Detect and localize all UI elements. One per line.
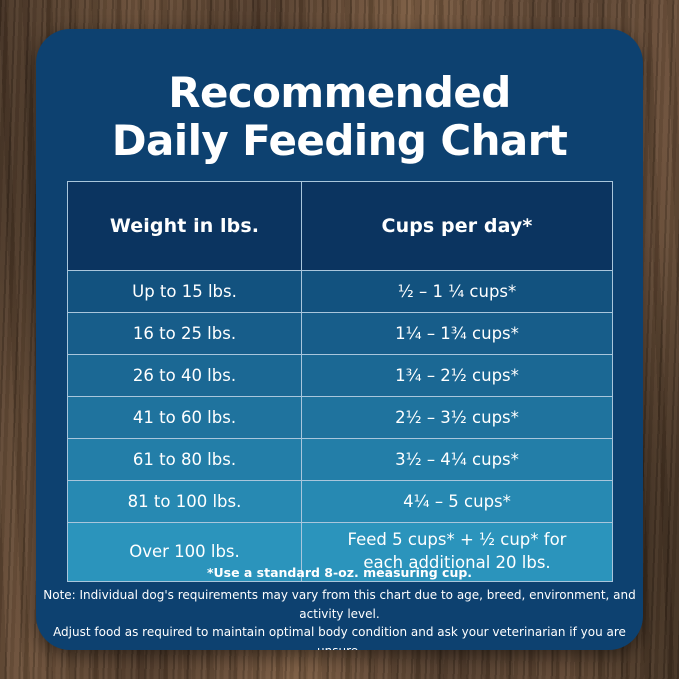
column-header-cups: Cups per day* bbox=[302, 182, 613, 271]
footnote-note-line-1: Note: Individual dog's requirements may … bbox=[36, 586, 643, 623]
cell-cups: ½ – 1 ¼ cups* bbox=[302, 271, 613, 313]
page-title: Recommended Daily Feeding Chart bbox=[36, 29, 643, 165]
cell-cups: 2½ – 3½ cups* bbox=[302, 397, 613, 439]
cell-cups: 4¼ – 5 cups* bbox=[302, 481, 613, 523]
table-row: 26 to 40 lbs. 1¾ – 2½ cups* bbox=[68, 355, 613, 397]
feeding-chart-table: Weight in lbs. Cups per day* Up to 15 lb… bbox=[67, 181, 613, 582]
cell-cups: 1¼ – 1¾ cups* bbox=[302, 313, 613, 355]
footnotes: *Use a standard 8-oz. measuring cup. Not… bbox=[36, 565, 643, 650]
cell-weight: 81 to 100 lbs. bbox=[68, 481, 302, 523]
cell-weight: 41 to 60 lbs. bbox=[68, 397, 302, 439]
column-header-weight: Weight in lbs. bbox=[68, 182, 302, 271]
cell-weight: 16 to 25 lbs. bbox=[68, 313, 302, 355]
feeding-chart-card: Recommended Daily Feeding Chart Weight i… bbox=[36, 29, 643, 650]
cell-weight: 26 to 40 lbs. bbox=[68, 355, 302, 397]
table-header-row: Weight in lbs. Cups per day* bbox=[68, 182, 613, 271]
cell-cups: 3½ – 4¼ cups* bbox=[302, 439, 613, 481]
table-row: 81 to 100 lbs. 4¼ – 5 cups* bbox=[68, 481, 613, 523]
table-row: 41 to 60 lbs. 2½ – 3½ cups* bbox=[68, 397, 613, 439]
table-row: 61 to 80 lbs. 3½ – 4¼ cups* bbox=[68, 439, 613, 481]
footnote-measuring-cup: *Use a standard 8-oz. measuring cup. bbox=[36, 565, 643, 580]
cell-cups-line-1: Feed 5 cups* + ½ cup* for bbox=[302, 529, 612, 552]
page-title-line-2: Daily Feeding Chart bbox=[36, 117, 643, 165]
footnote-note-line-2: Adjust food as required to maintain opti… bbox=[36, 623, 643, 650]
cell-weight: 61 to 80 lbs. bbox=[68, 439, 302, 481]
page-title-line-1: Recommended bbox=[36, 69, 643, 117]
cell-weight: Up to 15 lbs. bbox=[68, 271, 302, 313]
cell-cups: 1¾ – 2½ cups* bbox=[302, 355, 613, 397]
table-row: 16 to 25 lbs. 1¼ – 1¾ cups* bbox=[68, 313, 613, 355]
table-row: Up to 15 lbs. ½ – 1 ¼ cups* bbox=[68, 271, 613, 313]
